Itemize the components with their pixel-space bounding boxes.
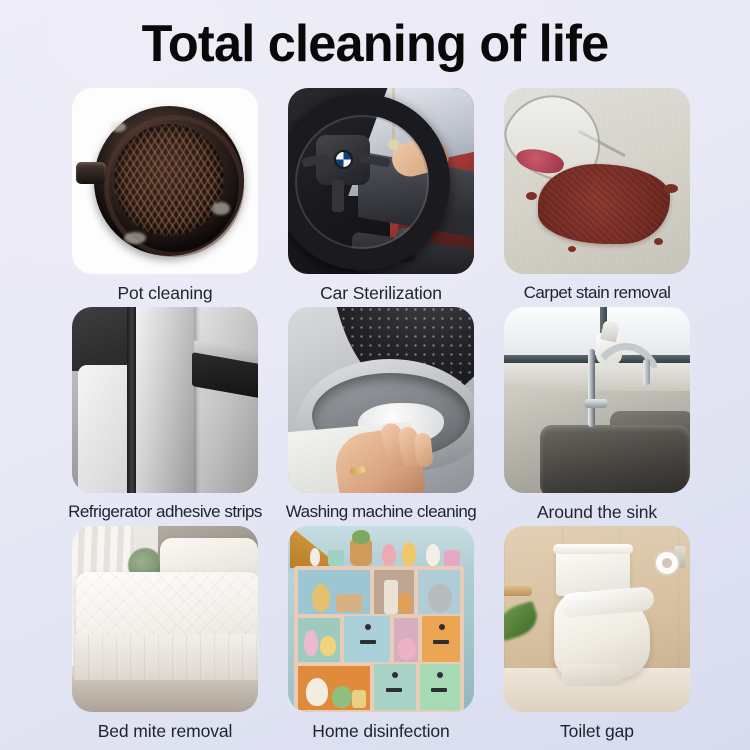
thumbnail-home-disinfection[interactable] [288,526,474,712]
poster-canvas: Total cleaning of life Pot cleaning [0,0,750,750]
thumbnail-car-sterilization[interactable] [288,88,474,274]
caption-carpet-stain-removal: Carpet stain removal [504,282,690,304]
thumbnail-carpet-stain-removal[interactable] [504,88,690,274]
grid-cell-toilet-gap[interactable]: Toilet gap [504,526,690,742]
caption-washing-machine-cleaning: Washing machine cleaning [256,501,506,523]
caption-bed-mite-removal: Bed mite removal [72,720,258,742]
washing-machine-icon [288,307,474,493]
bed-icon [72,526,258,712]
thumbnail-pot-cleaning[interactable] [72,88,258,274]
grid-cell-carpet-stain-removal[interactable]: Carpet stain removal [504,88,690,304]
shelf-icon [288,526,474,712]
fridge-icon [72,307,258,493]
pot-icon [72,88,258,274]
thumbnail-washing-machine-cleaning[interactable] [288,307,474,493]
caption-car-sterilization: Car Sterilization [288,282,474,304]
page-title: Total cleaning of life [11,14,739,74]
grid-cell-home-disinfection[interactable]: Home disinfection [288,526,474,742]
wine-glass-icon [504,88,690,274]
thumbnail-around-the-sink[interactable] [504,307,690,493]
caption-home-disinfection: Home disinfection [276,720,486,742]
grid-cell-car-sterilization[interactable]: Car Sterilization [288,88,474,304]
thumbnail-toilet-gap[interactable] [504,526,690,712]
car-icon [288,88,474,274]
sink-icon [504,307,690,493]
caption-refrigerator-adhesive-strips: Refrigerator adhesive strips [42,501,288,523]
thumbnail-refrigerator-adhesive-strips[interactable] [72,307,258,493]
toilet-icon [504,526,690,712]
grid-cell-refrigerator-adhesive-strips[interactable]: Refrigerator adhesive strips [72,307,258,523]
grid-cell-bed-mite-removal[interactable]: Bed mite removal [72,526,258,742]
feature-grid: Pot cleaning [72,88,690,742]
grid-cell-washing-machine-cleaning[interactable]: Washing machine cleaning [288,307,474,523]
thumbnail-bed-mite-removal[interactable] [72,526,258,712]
caption-toilet-gap: Toilet gap [504,720,690,742]
caption-pot-cleaning: Pot cleaning [72,282,258,304]
caption-around-the-sink: Around the sink [504,501,690,523]
grid-cell-pot-cleaning[interactable]: Pot cleaning [72,88,258,304]
grid-cell-around-the-sink[interactable]: Around the sink [504,307,690,523]
